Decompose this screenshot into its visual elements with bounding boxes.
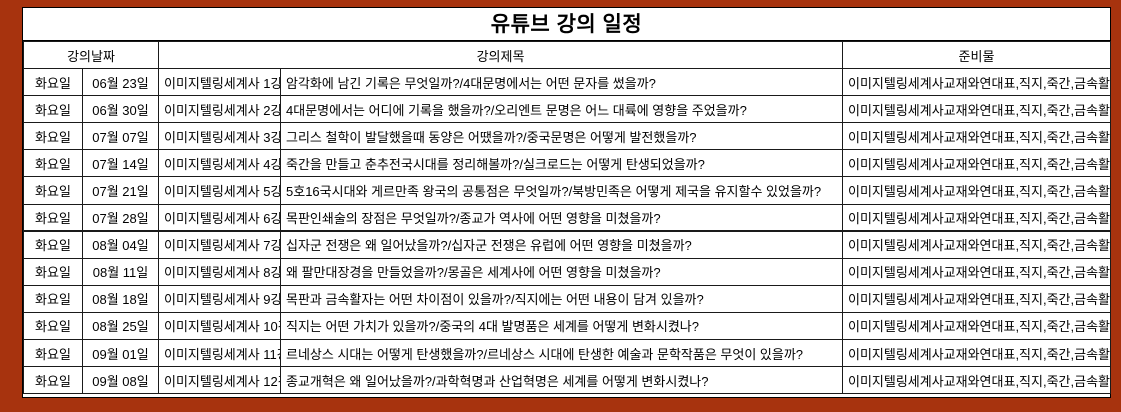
table-row: 화요일08월 18일이미지텔링세계사 9강-목판과 금속활자는 어떤 차이점이 …: [24, 285, 1111, 312]
cell-date: 07월 28일: [83, 204, 159, 231]
cell-topic: 목판인쇄술의 장점은 무엇일까?/종교가 역사에 어떤 영향을 미쳤을까?: [281, 204, 843, 231]
cell-materials: 이미지텔링세계사교재와연대표,직지,죽간,금속활자: [843, 312, 1111, 339]
cell-topic: 그리스 철학이 발달했을때 동양은 어땠을까?/중국문명은 어떻게 발전했을까?: [281, 123, 843, 150]
table-row: 화요일06월 23일이미지텔링세계사 1강-암각화에 남긴 기록은 무엇일까?/…: [24, 69, 1111, 96]
cell-series: 이미지텔링세계사 8강-: [159, 258, 281, 285]
cell-materials: 이미지텔링세계사교재와연대표,직지,죽간,금속활자: [843, 150, 1111, 177]
cell-day: 화요일: [24, 177, 83, 204]
schedule-sheet: 유튜브 강의 일정 강의날짜 강의제목 준비물 화요일06월 23일이미지텔링세…: [22, 7, 1111, 398]
cell-topic: 종교개혁은 왜 일어났을까?/과학혁명과 산업혁명은 세계를 어떻게 변화시켰나…: [281, 367, 843, 394]
table-row: 화요일08월 25일이미지텔링세계사 10강-직지는 어떤 가치가 있을까?/중…: [24, 312, 1111, 339]
cell-day: 화요일: [24, 367, 83, 394]
column-header-date: 강의날짜: [24, 42, 159, 69]
table-row: 화요일07월 21일이미지텔링세계사 5강-5호16국시대와 게르만족 왕국의 …: [24, 177, 1111, 204]
cell-date: 07월 21일: [83, 177, 159, 204]
cell-series: 이미지텔링세계사 12강-: [159, 367, 281, 394]
cell-series: 이미지텔링세계사 1강-: [159, 69, 281, 96]
table-row: 화요일07월 07일이미지텔링세계사 3강-그리스 철학이 발달했을때 동양은 …: [24, 123, 1111, 150]
border-left: [0, 0, 22, 412]
cell-day: 화요일: [24, 231, 83, 258]
table-row: 화요일08월 11일이미지텔링세계사 8강-왜 팔만대장경을 만들었을까?/몽골…: [24, 258, 1111, 285]
cell-topic: 5호16국시대와 게르만족 왕국의 공통점은 무엇일까?/북방민족은 어떻게 제…: [281, 177, 843, 204]
cell-series: 이미지텔링세계사 11강-: [159, 340, 281, 367]
cell-date: 07월 07일: [83, 123, 159, 150]
cell-materials: 이미지텔링세계사교재와연대표,직지,죽간,금속활자: [843, 340, 1111, 367]
poster-frame: 유튜브 강의 일정 강의날짜 강의제목 준비물 화요일06월 23일이미지텔링세…: [0, 0, 1121, 412]
cell-day: 화요일: [24, 340, 83, 367]
cell-materials: 이미지텔링세계사교재와연대표,직지,죽간,금속활자: [843, 258, 1111, 285]
cell-day: 화요일: [24, 69, 83, 96]
cell-topic: 암각화에 남긴 기록은 무엇일까?/4대문명에서는 어떤 문자를 썼을까?: [281, 69, 843, 96]
table-row: 화요일09월 01일이미지텔링세계사 11강-르네상스 시대는 어떻게 탄생했을…: [24, 340, 1111, 367]
cell-series: 이미지텔링세계사 5강-: [159, 177, 281, 204]
table-row: 화요일07월 28일이미지텔링세계사 6강-목판인쇄술의 장점은 무엇일까?/종…: [24, 204, 1111, 231]
cell-materials: 이미지텔링세계사교재와연대표,직지,죽간,금속활자: [843, 231, 1111, 258]
cell-day: 화요일: [24, 96, 83, 123]
lecture-schedule-table: 강의날짜 강의제목 준비물 화요일06월 23일이미지텔링세계사 1강-암각화에…: [23, 41, 1111, 394]
column-header-materials: 준비물: [843, 42, 1111, 69]
cell-day: 화요일: [24, 123, 83, 150]
cell-series: 이미지텔링세계사 10강-: [159, 312, 281, 339]
cell-date: 08월 25일: [83, 312, 159, 339]
cell-topic: 죽간을 만들고 춘추전국시대를 정리해볼까?/실크로드는 어떻게 탄생되었을까?: [281, 150, 843, 177]
border-top: [0, 0, 1121, 7]
cell-day: 화요일: [24, 312, 83, 339]
cell-date: 06월 23일: [83, 69, 159, 96]
cell-date: 09월 08일: [83, 367, 159, 394]
cell-series: 이미지텔링세계사 7강-: [159, 231, 281, 258]
table-row: 화요일08월 04일이미지텔링세계사 7강-십자군 전쟁은 왜 일어났을까?/십…: [24, 231, 1111, 258]
table-row: 화요일09월 08일이미지텔링세계사 12강-종교개혁은 왜 일어났을까?/과학…: [24, 367, 1111, 394]
cell-day: 화요일: [24, 285, 83, 312]
table-header: 강의날짜 강의제목 준비물: [24, 42, 1111, 69]
cell-series: 이미지텔링세계사 3강-: [159, 123, 281, 150]
cell-day: 화요일: [24, 204, 83, 231]
border-right: [1111, 0, 1121, 412]
cell-series: 이미지텔링세계사 4강-: [159, 150, 281, 177]
cell-series: 이미지텔링세계사 6강-: [159, 204, 281, 231]
cell-date: 07월 14일: [83, 150, 159, 177]
cell-topic: 왜 팔만대장경을 만들었을까?/몽골은 세계사에 어떤 영향을 미쳤을까?: [281, 258, 843, 285]
cell-day: 화요일: [24, 150, 83, 177]
cell-topic: 직지는 어떤 가치가 있을까?/중국의 4대 발명품은 세계를 어떻게 변화시켰…: [281, 312, 843, 339]
cell-materials: 이미지텔링세계사교재와연대표,직지,죽간,금속활자: [843, 69, 1111, 96]
table-row: 화요일07월 14일이미지텔링세계사 4강-죽간을 만들고 춘추전국시대를 정리…: [24, 150, 1111, 177]
cell-topic: 르네상스 시대는 어떻게 탄생했을까?/르네상스 시대에 탄생한 예술과 문학작…: [281, 340, 843, 367]
cell-date: 09월 01일: [83, 340, 159, 367]
cell-topic: 십자군 전쟁은 왜 일어났을까?/십자군 전쟁은 유럽에 어떤 영향을 미쳤을까…: [281, 231, 843, 258]
cell-materials: 이미지텔링세계사교재와연대표,직지,죽간,금속활자: [843, 177, 1111, 204]
cell-date: 08월 04일: [83, 231, 159, 258]
cell-materials: 이미지텔링세계사교재와연대표,직지,죽간,금속활자: [843, 123, 1111, 150]
cell-date: 08월 11일: [83, 258, 159, 285]
cell-materials: 이미지텔링세계사교재와연대표,직지,죽간,금속활자: [843, 96, 1111, 123]
cell-materials: 이미지텔링세계사교재와연대표,직지,죽간,금속활자: [843, 367, 1111, 394]
table-body: 화요일06월 23일이미지텔링세계사 1강-암각화에 남긴 기록은 무엇일까?/…: [24, 69, 1111, 394]
cell-materials: 이미지텔링세계사교재와연대표,직지,죽간,금속활자: [843, 285, 1111, 312]
cell-topic: 4대문명에서는 어디에 기록을 했을까?/오리엔트 문명은 어느 대륙에 영향을…: [281, 96, 843, 123]
page-title: 유튜브 강의 일정: [23, 8, 1110, 41]
border-bottom: [0, 398, 1121, 412]
cell-series: 이미지텔링세계사 9강-: [159, 285, 281, 312]
column-header-topic: 강의제목: [159, 42, 843, 69]
cell-day: 화요일: [24, 258, 83, 285]
cell-date: 06월 30일: [83, 96, 159, 123]
table-row: 화요일06월 30일이미지텔링세계사 2강-4대문명에서는 어디에 기록을 했을…: [24, 96, 1111, 123]
cell-date: 08월 18일: [83, 285, 159, 312]
header-row: 강의날짜 강의제목 준비물: [24, 42, 1111, 69]
cell-materials: 이미지텔링세계사교재와연대표,직지,죽간,금속활자: [843, 204, 1111, 231]
cell-series: 이미지텔링세계사 2강-: [159, 96, 281, 123]
cell-topic: 목판과 금속활자는 어떤 차이점이 있을까?/직지에는 어떤 내용이 담겨 있을…: [281, 285, 843, 312]
